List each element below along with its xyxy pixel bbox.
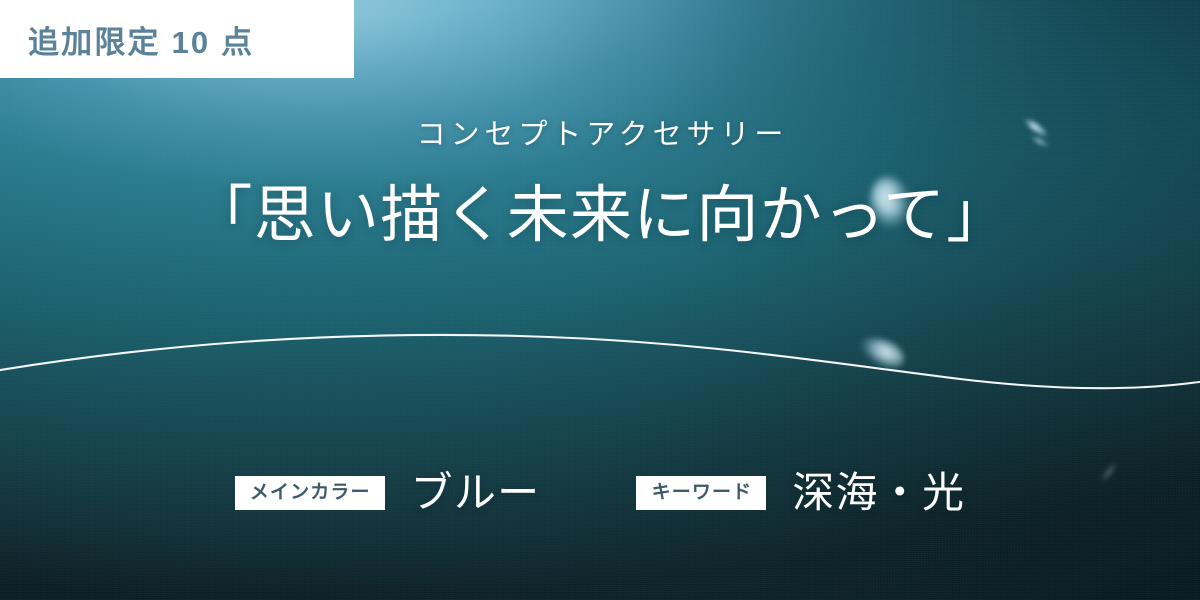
hero-copy: コンセプトアクセサリー 「思い描く未来に向かって」 bbox=[0, 118, 1200, 252]
meta-row: メインカラー ブルー キーワード 深海・光 bbox=[0, 472, 1200, 514]
meta-item-main-color: メインカラー ブルー bbox=[235, 472, 541, 514]
limited-quantity-badge: 追加限定 10 点 bbox=[0, 0, 354, 78]
hero-subtitle: コンセプトアクセサリー bbox=[0, 118, 1200, 153]
promo-banner: 追加限定 10 点 コンセプトアクセサリー 「思い描く未来に向かって」 メインカ… bbox=[0, 0, 1200, 600]
meta-value-main-color: ブルー bbox=[411, 472, 541, 514]
meta-item-keyword: キーワード 深海・光 bbox=[636, 472, 965, 514]
limited-quantity-badge-label: 追加限定 10 点 bbox=[28, 17, 254, 62]
meta-tag-main-color: メインカラー bbox=[235, 476, 385, 510]
hero-title: 「思い描く未来に向かって」 bbox=[0, 179, 1200, 252]
meta-tag-keyword: キーワード bbox=[636, 476, 766, 510]
meta-value-keyword: 深海・光 bbox=[792, 472, 965, 514]
